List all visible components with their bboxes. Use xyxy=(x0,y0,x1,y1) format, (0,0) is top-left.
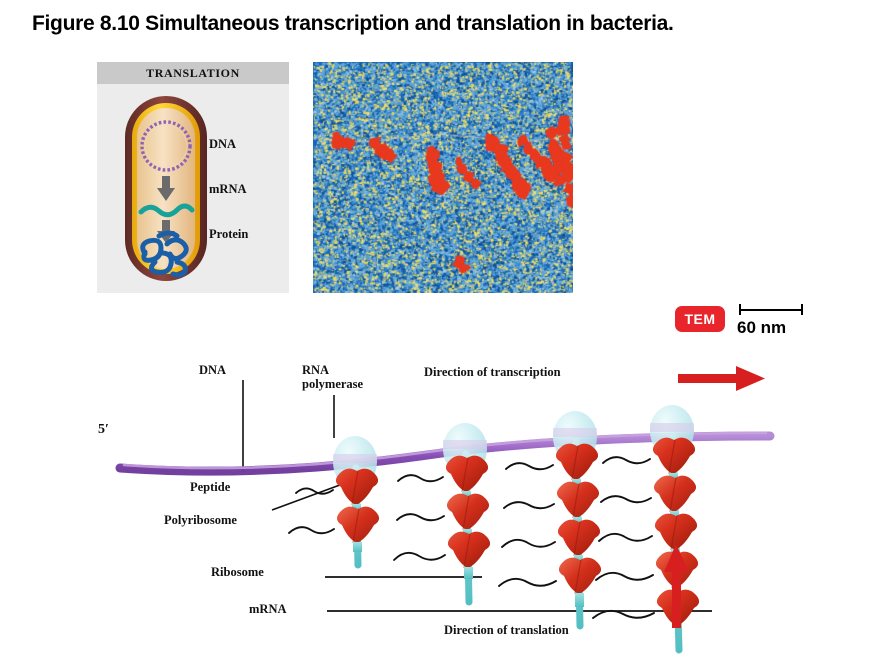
inset-header: TRANSLATION xyxy=(97,62,289,84)
peptide-chain xyxy=(596,573,653,580)
mrna-tail xyxy=(464,567,473,579)
polyribosome-chain xyxy=(289,436,379,565)
ribosome xyxy=(653,438,695,474)
mrna-tail xyxy=(353,542,362,552)
tem-badge-label: TEM xyxy=(684,311,715,327)
diagram-svg xyxy=(0,350,880,660)
ribosome xyxy=(446,456,488,492)
peptide-chain xyxy=(506,463,553,469)
arrow-direction-of-transcription xyxy=(678,366,765,391)
label-ribosome: Ribosome xyxy=(211,565,264,579)
ribosome xyxy=(336,469,378,505)
figure-title: Figure 8.10 Simultaneous transcription a… xyxy=(32,12,852,36)
ribosome xyxy=(447,494,489,530)
tem-micrograph xyxy=(313,62,573,293)
peptide-chain xyxy=(289,527,334,533)
peptide-chain xyxy=(502,540,555,547)
scale-bar xyxy=(739,304,803,315)
ribosome xyxy=(559,558,601,594)
inset-label-dna: DNA xyxy=(209,137,236,152)
peptide-chain xyxy=(398,475,443,481)
bacterial-cell-illustration xyxy=(97,84,289,293)
label-rna-polymerase: RNA polymerase xyxy=(302,363,363,392)
ribosome xyxy=(556,444,598,480)
inset-header-label: TRANSLATION xyxy=(146,66,240,81)
translation-inset-panel: TRANSLATION xyxy=(97,62,289,293)
label-mrna: mRNA xyxy=(249,602,287,616)
peptide-chain xyxy=(601,496,651,502)
leader-line-peptide xyxy=(272,482,348,510)
peptide-chain xyxy=(397,514,444,520)
tem-badge: TEM xyxy=(675,306,725,332)
label-direction-of-transcription: Direction of transcription xyxy=(424,365,561,379)
label-rna-polymerase-line2: polymerase xyxy=(302,377,363,391)
scale-bar-group: 60 nm xyxy=(737,300,817,346)
inset-label-protein: Protein xyxy=(209,227,248,242)
peptide-chain xyxy=(599,534,652,541)
peptide-chain xyxy=(394,553,445,560)
label-polyribosome: Polyribosome xyxy=(164,513,237,527)
peptide-chain xyxy=(504,502,554,508)
tem-canvas xyxy=(313,62,573,293)
peptide-chain xyxy=(499,579,556,586)
ribosome xyxy=(654,476,696,512)
label-dna: DNA xyxy=(199,363,226,377)
label-direction-of-translation: Direction of translation xyxy=(444,623,569,637)
ribosome xyxy=(558,520,600,556)
ribosome xyxy=(448,532,490,568)
label-peptide: Peptide xyxy=(190,480,230,494)
peptide-chain xyxy=(603,457,650,463)
label-rna-polymerase-line1: RNA xyxy=(302,363,363,377)
mrna-tail xyxy=(575,593,584,607)
ribosome xyxy=(337,507,379,543)
transcription-translation-diagram: 5′ DNA RNA polymerase Direction of trans… xyxy=(0,350,880,660)
ribosome xyxy=(557,482,599,518)
label-five-prime: 5′ xyxy=(98,422,109,438)
scale-bar-label: 60 nm xyxy=(737,318,817,338)
inset-label-mrna: mRNA xyxy=(209,182,247,197)
